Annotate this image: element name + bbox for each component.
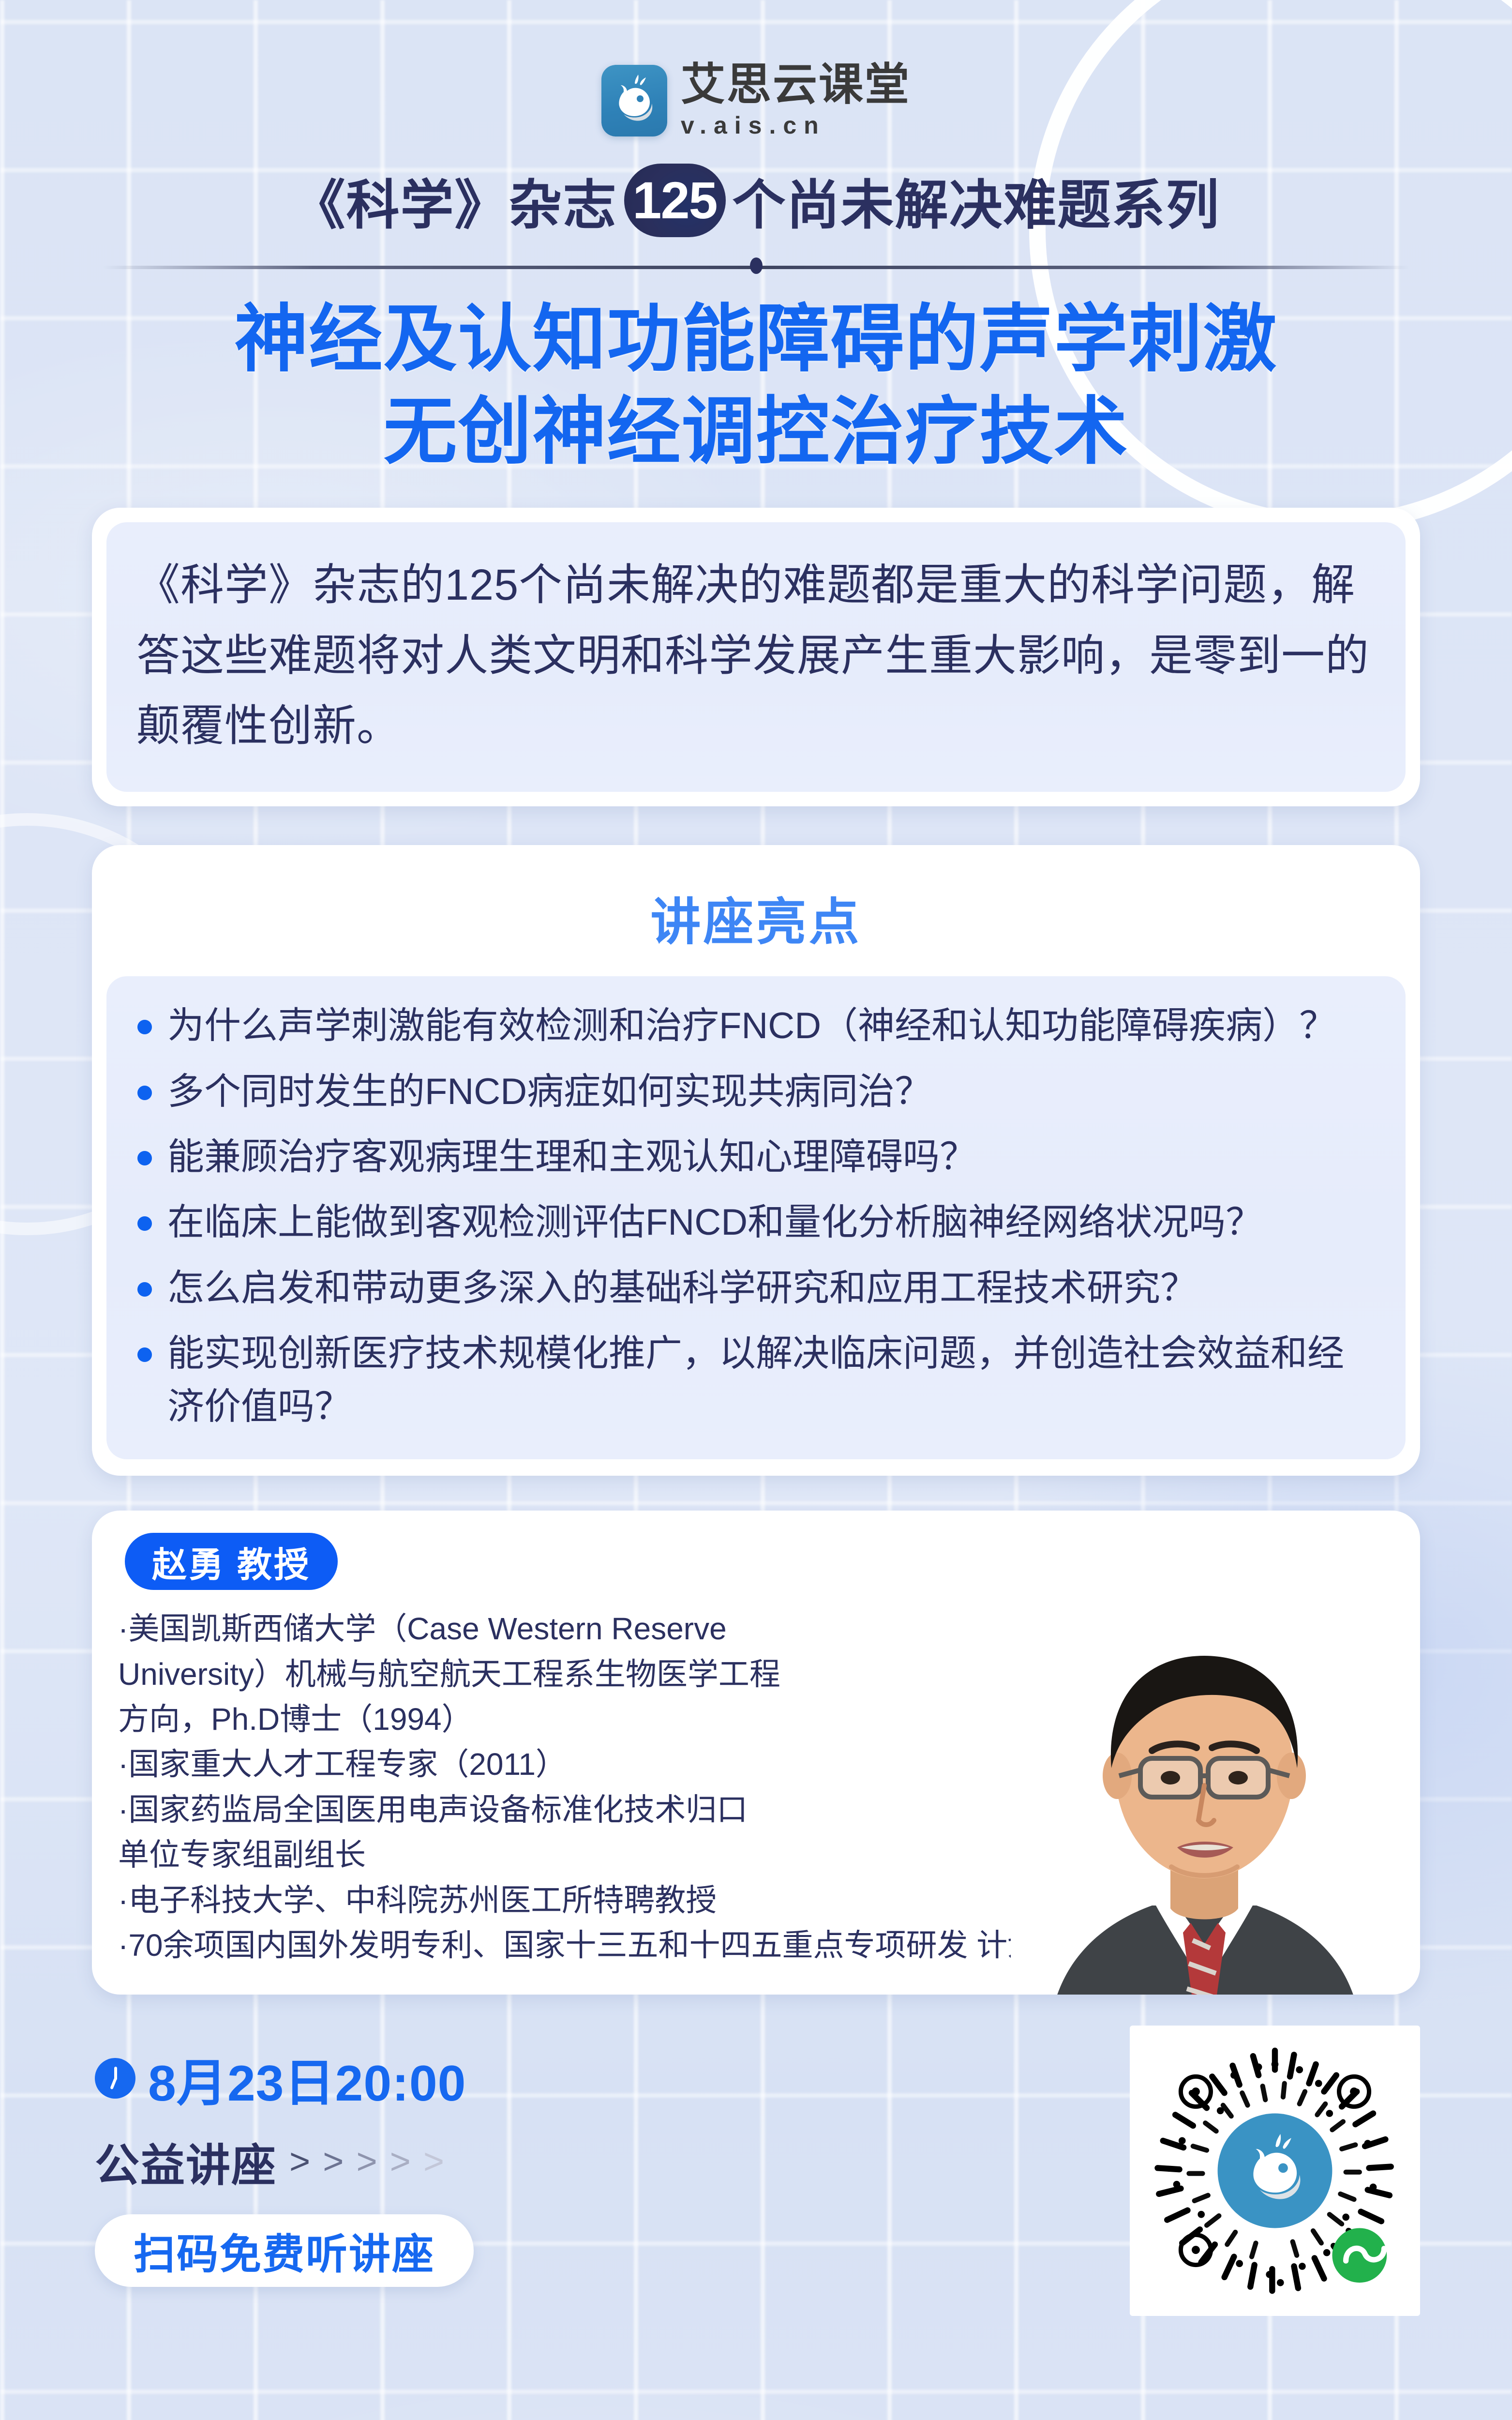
highlights-inner: 为什么声学刺激能有效检测和治疗FNCD（神经和认知功能障碍疾病）？ 多个同时发生… xyxy=(106,976,1406,1459)
highlights-title: 讲座亮点 xyxy=(106,860,1406,976)
chevron-right-icon: > xyxy=(289,2144,310,2179)
series-headline: 《科学》杂志 125 个尚未解决难题系列 xyxy=(0,162,1512,239)
series-prefix: 《科学》杂志 xyxy=(292,162,617,239)
series-suffix: 个尚未解决难题系列 xyxy=(733,162,1220,239)
footer-section: 8月23日20:00 公益讲座 > > > > > 扫码免费听讲座 xyxy=(0,2026,1512,2316)
page-title-line-1: 神经及认知功能障碍的声学刺激 xyxy=(0,293,1512,386)
brand-name-cn: 艾思云课堂 xyxy=(681,62,911,108)
chevron-right-icon: > xyxy=(423,2144,444,2179)
description-card: 《科学》杂志的125个尚未解决的难题都是重大的科学问题，解答这些难题将对人类文明… xyxy=(92,508,1420,806)
series-number-badge: 125 xyxy=(624,164,726,237)
chevron-right-icon: > xyxy=(356,2144,377,2179)
list-item: 多个同时发生的FNCD病症如何实现共病同治？ xyxy=(134,1065,1378,1118)
description-text: 《科学》杂志的125个尚未解决的难题都是重大的科学问题，解答这些难题将对人类文明… xyxy=(136,550,1376,762)
speaker-portrait-photo xyxy=(1011,1603,1398,1995)
poster-root: 艾思云课堂 v.ais.cn 《科学》杂志 125 个尚未解决难题系列 神经及认… xyxy=(0,0,1512,2420)
lecture-type-label: 公益讲座 xyxy=(95,2130,277,2194)
page-title-line-2: 无创神经调控治疗技术 xyxy=(0,386,1512,479)
brand-text-block: 艾思云课堂 v.ais.cn xyxy=(681,62,911,139)
brand-header: 艾思云课堂 v.ais.cn xyxy=(0,0,1512,139)
highlights-list: 为什么声学刺激能有效检测和治疗FNCD（神经和认知功能障碍疾病）？ 多个同时发生… xyxy=(134,999,1378,1433)
speaker-card: 赵勇 教授 xyxy=(92,1511,1420,1995)
chevron-right-icon: > xyxy=(323,2144,344,2179)
event-time-row: 8月23日20:00 xyxy=(95,2042,474,2115)
speaker-body: ·美国凯斯西储大学（Case Western Reserve Universit… xyxy=(118,1606,1394,1968)
scan-free-lecture-button[interactable]: 扫码免费听讲座 xyxy=(95,2214,474,2287)
list-item: 在临床上能做到客观检测评估FNCD和量化分析脑神经网络状况吗？ xyxy=(134,1196,1378,1249)
page-title: 神经及认知功能障碍的声学刺激 无创神经调控治疗技术 xyxy=(0,293,1512,479)
footer-left-block: 8月23日20:00 公益讲座 > > > > > 扫码免费听讲座 xyxy=(95,2026,474,2287)
whale-logo-icon xyxy=(601,65,667,136)
list-item: 能兼顾治疗客观病理生理和主观认知心理障碍吗？ xyxy=(134,1131,1378,1183)
event-time-text: 8月23日20:00 xyxy=(148,2042,466,2115)
highlights-card: 讲座亮点 为什么声学刺激能有效检测和治疗FNCD（神经和认知功能障碍疾病）？ 多… xyxy=(92,845,1420,1476)
list-item: 为什么声学刺激能有效检测和治疗FNCD（神经和认知功能障碍疾病）？ xyxy=(134,999,1378,1052)
brand-name-en: v.ais.cn xyxy=(681,111,826,139)
speaker-name-badge: 赵勇 教授 xyxy=(125,1533,338,1590)
divider-dot-icon xyxy=(750,257,763,274)
wechat-miniprogram-qr-icon[interactable] xyxy=(1130,2026,1420,2316)
list-item: 怎么启发和带动更多深入的基础科学研究和应用工程技术研究？ xyxy=(134,1262,1378,1315)
description-inner: 《科学》杂志的125个尚未解决的难题都是重大的科学问题，解答这些难题将对人类文明… xyxy=(106,522,1406,792)
clock-icon xyxy=(95,2058,135,2099)
list-item: 能实现创新医疗技术规模化推广，以解决临床问题，并创造社会效益和经济价值吗？ xyxy=(134,1327,1378,1433)
section-divider xyxy=(103,258,1409,273)
chevron-right-icon: > xyxy=(390,2144,411,2179)
lecture-type-row: 公益讲座 > > > > > xyxy=(95,2130,474,2194)
